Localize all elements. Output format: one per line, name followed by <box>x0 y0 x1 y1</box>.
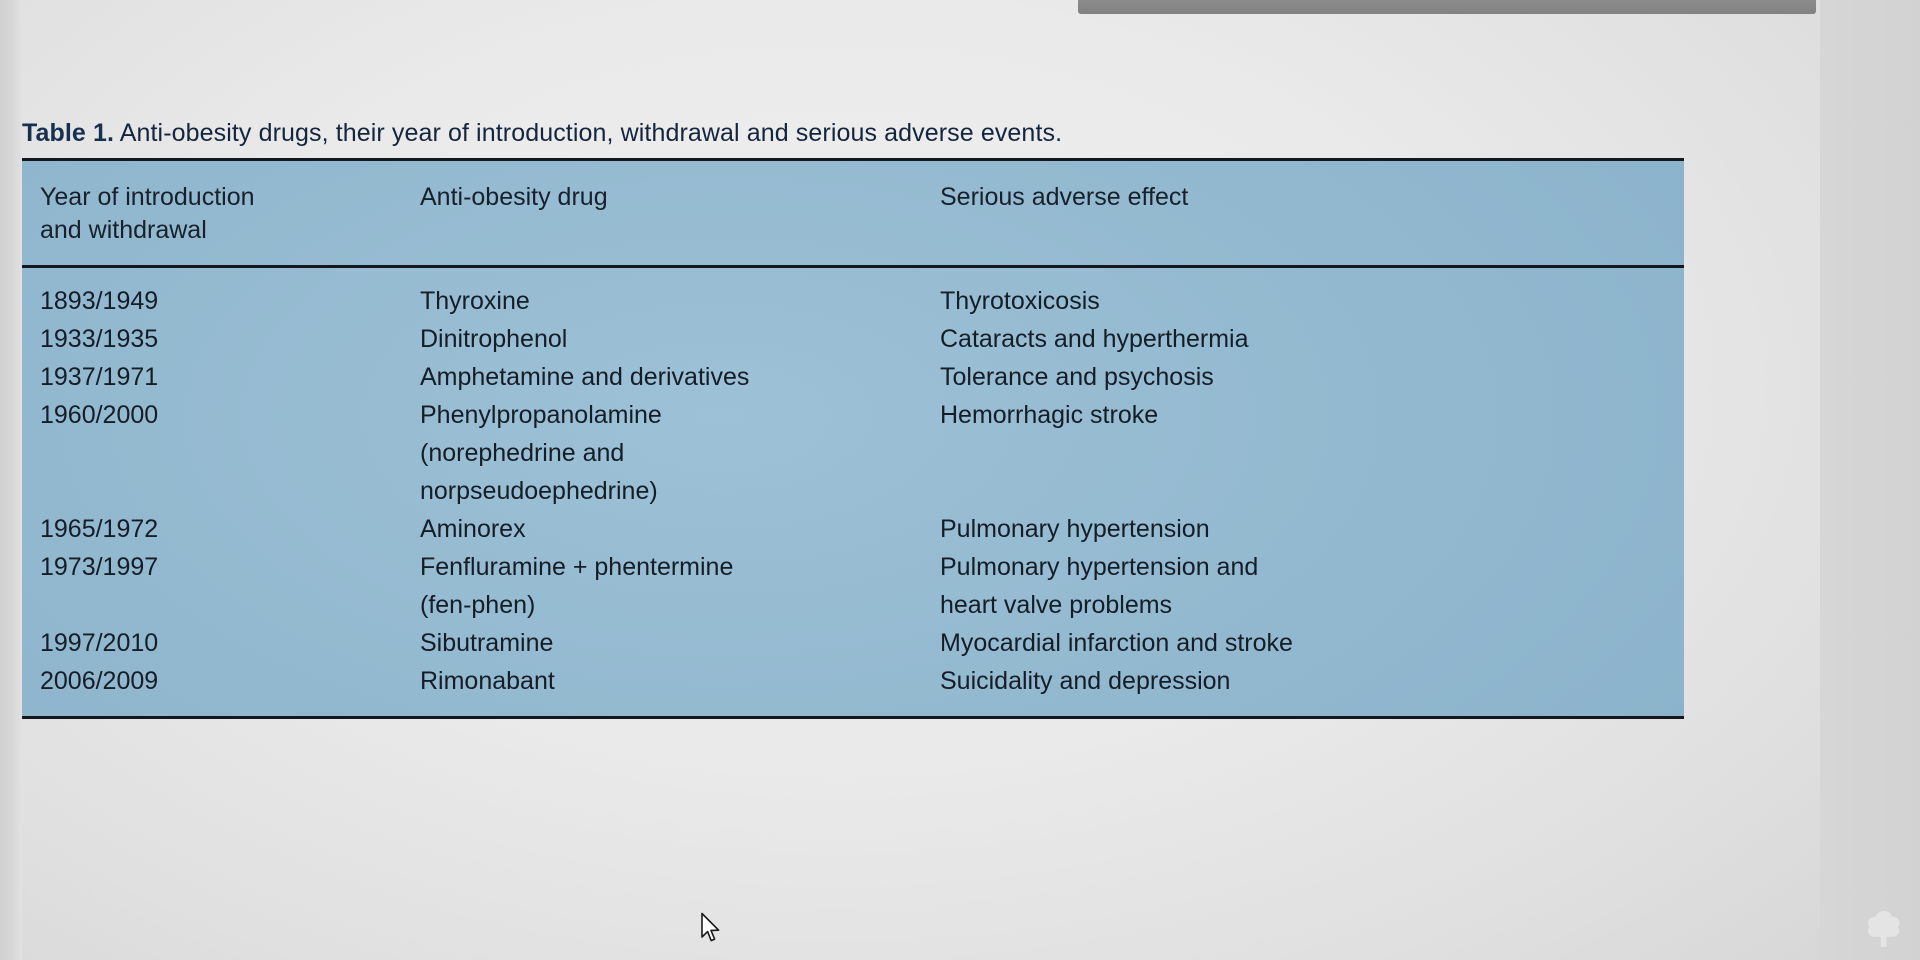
cell-year: 1937/1971 <box>22 358 420 396</box>
cell-drug: Aminorex <box>420 510 940 548</box>
effect-line: Thyrotoxicosis <box>940 282 1684 320</box>
effect-line: Hemorrhagic stroke <box>940 396 1684 434</box>
tree-watermark-icon <box>1862 908 1906 948</box>
table-figure: Table 1. Anti-obesity drugs, their year … <box>22 118 1684 719</box>
cell-effect: Pulmonary hypertension andheart valve pr… <box>940 548 1684 624</box>
cell-effect: Suicidality and depression <box>940 662 1684 718</box>
cell-effect: Cataracts and hyperthermia <box>940 320 1684 358</box>
effect-line: heart valve problems <box>940 586 1684 624</box>
effect-line: Pulmonary hypertension and <box>940 548 1684 586</box>
year-value: 1960/2000 <box>40 396 420 434</box>
drug-line: Amphetamine and derivatives <box>420 358 940 396</box>
table-row: 1893/1949ThyroxineThyrotoxicosis <box>22 267 1684 321</box>
canvas-right-shade <box>1820 0 1920 960</box>
drug-line: (norephedrine and <box>420 434 940 472</box>
table-row: 1960/2000Phenylpropanolamine(norephedrin… <box>22 396 1684 510</box>
drug-line: Aminorex <box>420 510 940 548</box>
effect-line: Myocardial infarction and stroke <box>940 624 1684 662</box>
drug-line: Rimonabant <box>420 662 940 700</box>
toolbar-items <box>1078 0 1816 12</box>
table-row: 1937/1971Amphetamine and derivativesTole… <box>22 358 1684 396</box>
table-row: 1965/1972AminorexPulmonary hypertension <box>22 510 1684 548</box>
cell-drug: Thyroxine <box>420 267 940 321</box>
year-value: 2006/2009 <box>40 662 420 700</box>
canvas-left-shade <box>0 0 22 960</box>
drug-line: (fen-phen) <box>420 586 940 624</box>
table-row: 1973/1997Fenfluramine + phentermine(fen-… <box>22 548 1684 624</box>
drug-line: Sibutramine <box>420 624 940 662</box>
cell-drug: Rimonabant <box>420 662 940 718</box>
table-row: 1997/2010SibutramineMyocardial infarctio… <box>22 624 1684 662</box>
cell-year: 1933/1935 <box>22 320 420 358</box>
drug-line: Fenfluramine + phentermine <box>420 548 940 586</box>
cell-effect: Myocardial infarction and stroke <box>940 624 1684 662</box>
cell-year: 1960/2000 <box>22 396 420 510</box>
drug-line: Dinitrophenol <box>420 320 940 358</box>
cell-year: 2006/2009 <box>22 662 420 718</box>
cell-year: 1997/2010 <box>22 624 420 662</box>
table-body: 1893/1949ThyroxineThyrotoxicosis1933/193… <box>22 267 1684 718</box>
year-value: 1933/1935 <box>40 320 420 358</box>
year-value: 1973/1997 <box>40 548 420 586</box>
cell-effect: Pulmonary hypertension <box>940 510 1684 548</box>
effect-line: Cataracts and hyperthermia <box>940 320 1684 358</box>
cell-year: 1965/1972 <box>22 510 420 548</box>
header-drug-line1: Anti-obesity drug <box>420 181 940 214</box>
cell-drug: Dinitrophenol <box>420 320 940 358</box>
cell-effect: Thyrotoxicosis <box>940 267 1684 321</box>
drug-line: norpseudoephedrine) <box>420 472 940 510</box>
cell-drug: Amphetamine and derivatives <box>420 358 940 396</box>
cell-year: 1893/1949 <box>22 267 420 321</box>
header-year-line2: and withdrawal <box>40 214 420 247</box>
cell-year: 1973/1997 <box>22 548 420 624</box>
table-caption: Table 1. Anti-obesity drugs, their year … <box>22 118 1684 148</box>
header-year-line1: Year of introduction <box>40 181 420 214</box>
table-row: 1933/1935DinitrophenolCataracts and hype… <box>22 320 1684 358</box>
caption-label: Table 1. <box>22 119 114 147</box>
floating-toolbar[interactable] <box>1078 0 1816 14</box>
year-value: 1965/1972 <box>40 510 420 548</box>
effect-line: Pulmonary hypertension <box>940 510 1684 548</box>
table-row: 2006/2009RimonabantSuicidality and depre… <box>22 662 1684 718</box>
column-header-drug: Anti-obesity drug <box>420 160 940 267</box>
cell-drug: Sibutramine <box>420 624 940 662</box>
header-row: Year of introduction and withdrawal Anti… <box>22 160 1684 267</box>
year-value: 1893/1949 <box>40 282 420 320</box>
table-head: Year of introduction and withdrawal Anti… <box>22 160 1684 267</box>
anti-obesity-drugs-table: Year of introduction and withdrawal Anti… <box>22 158 1684 719</box>
cell-effect: Hemorrhagic stroke <box>940 396 1684 510</box>
column-header-effect: Serious adverse effect <box>940 160 1684 267</box>
cell-drug: Phenylpropanolamine(norephedrine andnorp… <box>420 396 940 510</box>
year-value: 1937/1971 <box>40 358 420 396</box>
caption-text: Anti-obesity drugs, their year of introd… <box>120 119 1062 147</box>
effect-line: Suicidality and depression <box>940 662 1684 700</box>
cell-effect: Tolerance and psychosis <box>940 358 1684 396</box>
effect-line: Tolerance and psychosis <box>940 358 1684 396</box>
column-header-year: Year of introduction and withdrawal <box>22 160 420 267</box>
cell-drug: Fenfluramine + phentermine(fen-phen) <box>420 548 940 624</box>
year-value: 1997/2010 <box>40 624 420 662</box>
header-effect-line1: Serious adverse effect <box>940 181 1684 214</box>
screen: Table 1. Anti-obesity drugs, their year … <box>0 0 1920 960</box>
drug-line: Phenylpropanolamine <box>420 396 940 434</box>
drug-line: Thyroxine <box>420 282 940 320</box>
